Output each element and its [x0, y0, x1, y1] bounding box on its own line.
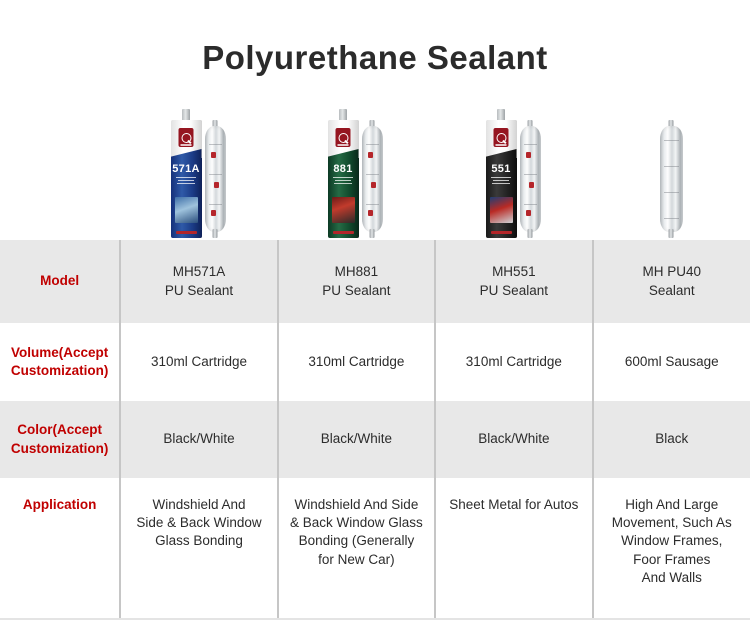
table-row: Model MH571APU Sealant MH881PU Sealant M…: [0, 240, 750, 323]
product-strip-spacer: [0, 110, 120, 238]
cartridge-icon: 881: [328, 120, 359, 238]
cell-model-pu40: MH PU40Sealant: [593, 240, 750, 323]
sausage-clip-bottom: [213, 229, 218, 238]
sausage-label-mark: [368, 210, 373, 216]
product-image-pu40[interactable]: [592, 110, 750, 238]
cartridge-text-lines: [332, 177, 355, 186]
pack-group: [660, 110, 683, 238]
cartridge-icon: 571A: [171, 120, 202, 238]
cartridge-footer-band: [491, 231, 512, 234]
cartridge-photo: [332, 197, 355, 223]
cartridge-footer-band: [333, 231, 354, 234]
cell-application-881: Windshield And Side& Back Window GlassBo…: [278, 478, 435, 619]
sausage-icon: [660, 120, 683, 238]
row-label-color: Color(Accept Customization): [0, 401, 120, 478]
table-row: Volume(Accept Customization) 310ml Cartr…: [0, 323, 750, 401]
sausage-label-mark: [211, 152, 216, 158]
cartridge-text-lines: [490, 177, 513, 186]
cartridge-icon: 551: [486, 120, 517, 238]
cartridge-photo: [490, 197, 513, 223]
cell-color-571a: Black/White: [120, 401, 277, 478]
pack-group: 551: [486, 110, 541, 238]
sausage-clip-bottom: [370, 229, 375, 238]
product-image-881[interactable]: 881: [276, 110, 434, 238]
page-title: Polyurethane Sealant: [0, 38, 750, 78]
cell-application-551: Sheet Metal for Autos: [435, 478, 592, 619]
sausage-label-mark: [211, 210, 216, 216]
brand-logo-icon: [179, 128, 194, 147]
sausage-clip-bottom: [528, 229, 533, 238]
cartridge-body: 571A: [171, 120, 202, 238]
table-row: Color(Accept Customization) Black/White …: [0, 401, 750, 478]
cartridge-body: 551: [486, 120, 517, 238]
product-image-strip: 571A: [0, 110, 750, 238]
cell-color-881: Black/White: [278, 401, 435, 478]
brand-logo-icon: [336, 128, 351, 147]
row-label-application: Application: [0, 478, 120, 619]
cell-volume-571a: 310ml Cartridge: [120, 323, 277, 401]
sausage-label-mark: [529, 182, 534, 188]
sausage-icon: [520, 120, 541, 238]
sausage-label-mark: [371, 182, 376, 188]
table-row: Application Windshield AndSide & Back Wi…: [0, 478, 750, 619]
cell-volume-881: 310ml Cartridge: [278, 323, 435, 401]
cartridge-text-lines: [175, 177, 198, 186]
row-label-model: Model: [0, 240, 120, 323]
product-image-571a[interactable]: 571A: [120, 110, 276, 238]
cell-volume-pu40: 600ml Sausage: [593, 323, 750, 401]
sausage-icon: [205, 120, 226, 238]
cell-application-pu40: High And LargeMovement, Such AsWindow Fr…: [593, 478, 750, 619]
sausage-icon: [362, 120, 383, 238]
product-image-551[interactable]: 551: [434, 110, 592, 238]
cartridge-number: 551: [486, 164, 517, 175]
sausage-label-mark: [214, 182, 219, 188]
pack-group: 881: [328, 110, 383, 238]
cartridge-number: 571A: [171, 164, 202, 175]
cell-model-551: MH551PU Sealant: [435, 240, 592, 323]
pack-group: 571A: [171, 110, 226, 238]
row-label-volume: Volume(Accept Customization): [0, 323, 120, 401]
brand-logo-icon: [494, 128, 509, 147]
sausage-body: [205, 126, 226, 232]
sausage-label-mark: [368, 152, 373, 158]
cell-color-pu40: Black: [593, 401, 750, 478]
sausage-label-mark: [526, 210, 531, 216]
cartridge-number: 881: [328, 164, 359, 175]
sausage-body: [520, 126, 541, 232]
sausage-body: [362, 126, 383, 232]
cell-volume-551: 310ml Cartridge: [435, 323, 592, 401]
cartridge-footer-band: [176, 231, 197, 234]
sausage-body: [660, 126, 683, 232]
cartridge-photo: [175, 197, 198, 223]
cell-application-571a: Windshield AndSide & Back WindowGlass Bo…: [120, 478, 277, 619]
cell-color-551: Black/White: [435, 401, 592, 478]
product-spec-sheet: Polyurethane Sealant 571A: [0, 0, 750, 634]
sausage-label-mark: [526, 152, 531, 158]
cell-model-571a: MH571APU Sealant: [120, 240, 277, 323]
cell-model-881: MH881PU Sealant: [278, 240, 435, 323]
sausage-clip-bottom: [669, 229, 674, 238]
specification-table: Model MH571APU Sealant MH881PU Sealant M…: [0, 240, 750, 620]
cartridge-body: 881: [328, 120, 359, 238]
